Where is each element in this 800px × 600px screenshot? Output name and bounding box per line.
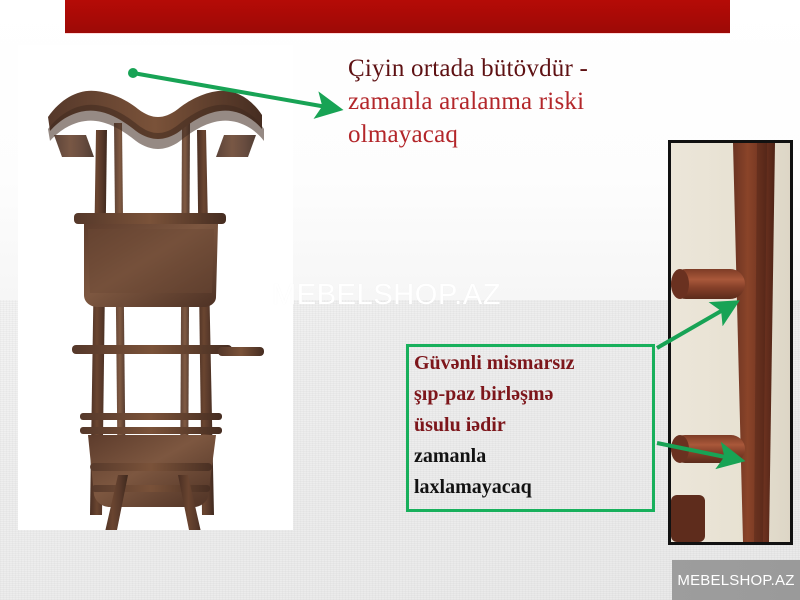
callout-line-1: Güvənli mismarsız xyxy=(414,348,654,379)
callout-line-5: laxlamayacaq xyxy=(414,472,654,503)
callout-line-4: zamanla xyxy=(414,441,654,472)
callout-line-2: şıp-paz birləşmə xyxy=(414,379,654,410)
valet-stand-illustration xyxy=(18,45,293,530)
dowel-joint-illustration xyxy=(671,143,790,542)
headline: Çiyin ortada bütövdür - zamanla aralanma… xyxy=(348,52,668,151)
watermark-badge-label: MEBELSHOP.AZ xyxy=(677,572,794,589)
joint-photo-right xyxy=(668,140,793,545)
callout-line-3: üsulu iədir xyxy=(414,410,654,441)
callout-text: Güvənli mismarsız şıp-paz birləşmə üsulu… xyxy=(414,348,654,503)
slide-canvas: Çiyin ortada bütövdür - zamanla aralanma… xyxy=(0,0,800,600)
product-photo-left xyxy=(18,45,293,530)
top-red-banner xyxy=(65,0,730,33)
headline-line-3: olmayacaq xyxy=(348,118,668,151)
headline-line-2: zamanla aralanma riski xyxy=(348,85,668,118)
watermark-center: MEBELSHOP.AZ xyxy=(272,279,501,312)
headline-line-1: Çiyin ortada bütövdür - xyxy=(348,52,668,85)
watermark-badge: MEBELSHOP.AZ xyxy=(672,560,800,600)
